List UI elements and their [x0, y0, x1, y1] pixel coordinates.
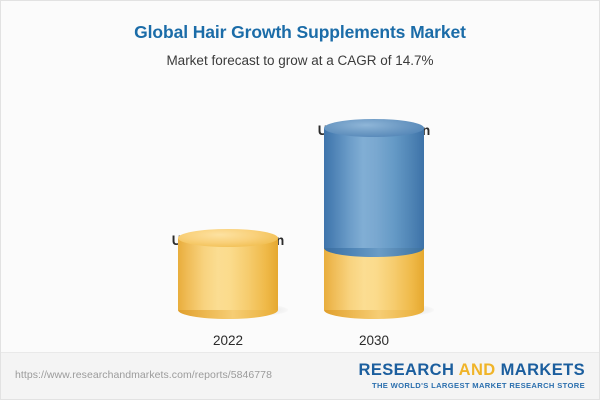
- cylinder-top-ellipse: [178, 229, 278, 247]
- cylinder-bar-2022[interactable]: [178, 238, 278, 310]
- cylinder-body: [324, 248, 424, 310]
- chart-plot-area: USD 651.7 Million 2022 USD 1,920 Million: [1, 86, 599, 348]
- logo-word-markets: MARKETS: [496, 361, 585, 379]
- footer-bar: https://www.researchandmarkets.com/repor…: [1, 352, 599, 399]
- logo-word-and: AND: [459, 361, 496, 379]
- cylinder-top-ellipse: [324, 119, 424, 137]
- chart-card: Global Hair Growth Supplements Market Ma…: [0, 0, 600, 400]
- chart-header: Global Hair Growth Supplements Market Ma…: [1, 1, 599, 70]
- cylinder-body: [178, 238, 278, 310]
- category-label-2030: 2030: [304, 333, 444, 348]
- cylinder-bar-2030[interactable]: [324, 128, 424, 310]
- logo-word-research: RESEARCH: [359, 361, 459, 379]
- logo-wordmark: RESEARCH AND MARKETS: [359, 361, 586, 380]
- category-label-2022: 2022: [158, 333, 298, 348]
- bar-segment-growth: [324, 128, 424, 248]
- report-url-link[interactable]: https://www.researchandmarkets.com/repor…: [15, 369, 272, 381]
- cylinder-body: [324, 128, 424, 248]
- bar-segment-base: [324, 248, 424, 310]
- page-title: Global Hair Growth Supplements Market: [1, 21, 599, 43]
- brand-logo[interactable]: RESEARCH AND MARKETS THE WORLD'S LARGEST…: [359, 361, 586, 391]
- bar-segment-base: [178, 238, 278, 310]
- logo-tagline: THE WORLD'S LARGEST MARKET RESEARCH STOR…: [359, 381, 586, 391]
- chart-subtitle: Market forecast to grow at a CAGR of 14.…: [1, 52, 599, 70]
